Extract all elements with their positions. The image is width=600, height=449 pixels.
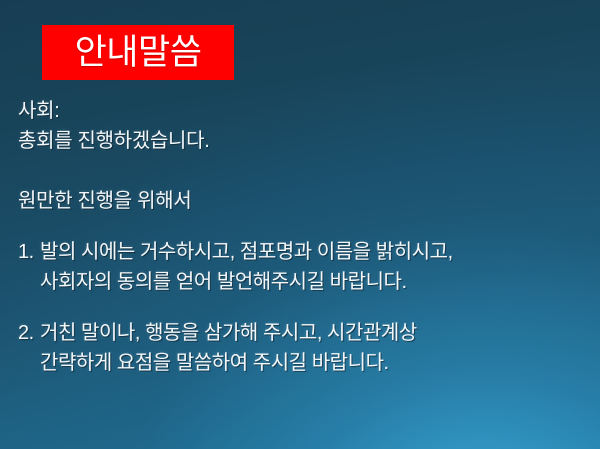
list-item: 2. 거친 말이나, 행동을 삼가해 주시고, 시간관계상 간략하게 요점을 말… <box>18 318 590 378</box>
slide-title-banner: 안내말씀 <box>42 25 234 80</box>
page-title: 안내말씀 <box>75 35 202 70</box>
numbered-list: 1. 발의 시에는 거수하시고, 점포명과 이름을 밝히시고, 사회자의 동의를… <box>18 237 590 378</box>
slide-body: 사회: 총회를 진행하겠습니다. 원만한 진행을 위해서 1. 발의 시에는 거… <box>18 96 590 378</box>
intro-line-2: 총회를 진행하겠습니다. <box>18 126 590 156</box>
list-item-line: 간략하게 요점을 말씀하여 주시길 바랍니다. <box>40 348 590 378</box>
presentation-slide: 안내말씀 사회: 총회를 진행하겠습니다. 원만한 진행을 위해서 1. 발의 … <box>0 0 600 449</box>
intro-line-1: 사회: <box>18 96 590 126</box>
list-item-line: 발의 시에는 거수하시고, 점포명과 이름을 밝히시고, <box>40 237 590 267</box>
list-item-line: 거친 말이나, 행동을 삼가해 주시고, 시간관계상 <box>40 318 590 348</box>
list-item-line: 사회자의 동의를 얻어 발언해주시길 바랍니다. <box>40 267 590 297</box>
list-item: 1. 발의 시에는 거수하시고, 점포명과 이름을 밝히시고, 사회자의 동의를… <box>18 237 590 297</box>
slide-content: 안내말씀 사회: 총회를 진행하겠습니다. 원만한 진행을 위해서 1. 발의 … <box>0 0 600 449</box>
list-item-marker: 1. <box>18 237 40 267</box>
note-line: 원만한 진행을 위해서 <box>18 186 590 216</box>
body-spacer <box>18 156 590 186</box>
list-item-marker: 2. <box>18 318 40 348</box>
